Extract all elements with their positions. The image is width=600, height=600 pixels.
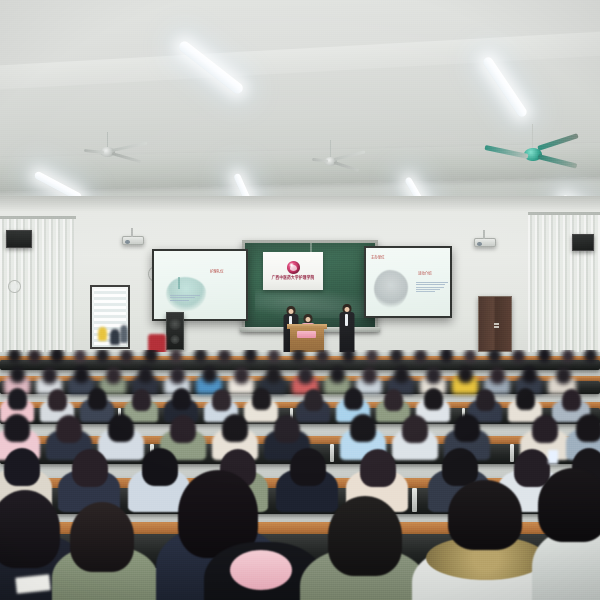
wall-speaker-left [6,230,32,248]
event-banner: 广西中医药大学护理学院 [263,252,323,290]
podium-sign [297,331,316,338]
right-slide-title: 活动介绍 [418,270,432,276]
wall-ceiling-shadow [0,196,600,212]
lecture-hall-photo: 广西中医药大学护理学院 护理礼仪 主办单位 活动介绍 [0,0,600,600]
projector-mount-left [131,228,133,237]
ceiling-projector-right [474,238,496,247]
projector-mount-right [483,230,485,239]
ceiling-fan-2 [308,140,368,180]
ceiling-projector-left [122,236,144,245]
door-right[interactable] [478,296,512,352]
left-slide-accent [178,277,180,289]
banner-text: 广西中医药大学护理学院 [272,275,315,281]
doorway-figure [110,329,120,345]
doorway-figure [120,325,128,343]
right-slide-text-lines [416,282,448,292]
ceiling-fan-1 [78,132,148,172]
left-projection-screen: 护理礼仪 [152,249,248,321]
curtain-rail-left [0,216,76,219]
right-projection-screen: 主办单位 活动介绍 [364,246,452,318]
left-slide-title: 护理礼仪 [210,268,224,274]
phone-screen [548,450,558,464]
left-slide: 护理礼仪 [154,251,246,319]
doorway-left[interactable] [90,285,130,349]
left-slide-graphic [166,277,206,311]
right-slide-heading: 主办单位 [371,254,385,260]
curtain-rail-right [528,212,600,215]
university-emblem-icon [287,261,300,274]
right-slide-graphic [374,270,408,308]
doorway-figure [98,327,107,341]
wall-speaker-right [572,234,594,251]
presenter-right [338,304,356,356]
floor-speaker [166,312,184,350]
ceiling-fan-green [488,124,584,178]
wall-fan-left2 [8,280,21,293]
left-slide-text-lines [170,295,200,300]
right-slide: 主办单位 活动介绍 [366,248,450,316]
